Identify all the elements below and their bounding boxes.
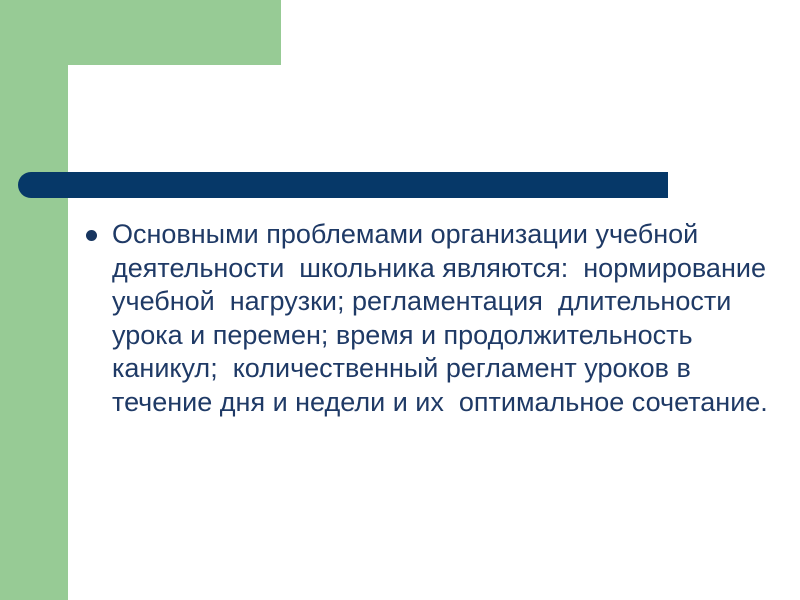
bullet-list-item: Основными проблемами организации учебной… xyxy=(86,218,776,419)
green-vertical-band xyxy=(0,0,68,600)
bullet-dot-icon xyxy=(86,230,97,241)
slide-canvas: Основными проблемами организации учебной… xyxy=(0,0,800,600)
body-paragraph: Основными проблемами организации учебной… xyxy=(112,218,776,419)
green-horizontal-band xyxy=(0,0,281,65)
navy-title-rule xyxy=(18,172,668,198)
